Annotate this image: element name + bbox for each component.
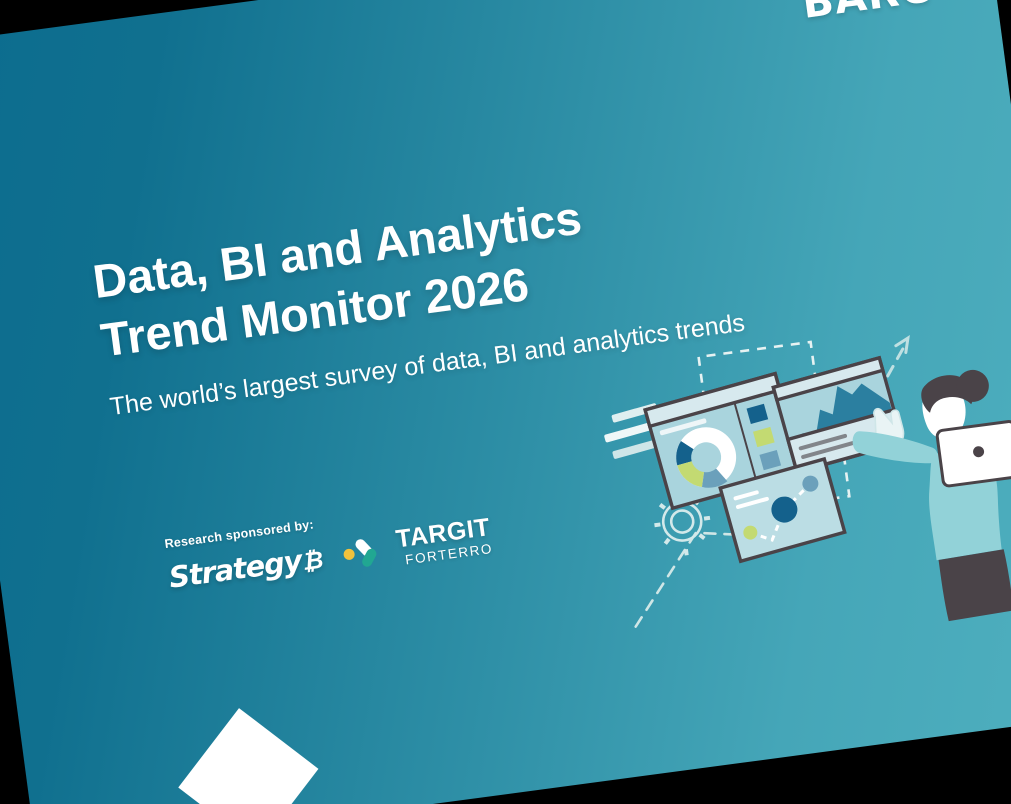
cover-canvas: BARC Data, BI and Analytics Trend Monito… (0, 0, 1011, 804)
sponsors-block: Research sponsored by: Strategy₿ TARGIT … (164, 494, 494, 598)
strategy-wordmark: Strategy (167, 544, 303, 595)
sponsor-logo-strategy[interactable]: Strategy₿ (167, 541, 324, 595)
hero-illustration (584, 288, 1011, 672)
targit-text-block: TARGIT FORTERRO (394, 515, 493, 568)
targit-chevron-icon (342, 534, 392, 570)
targit-dot-icon (343, 548, 355, 560)
cover-card: BARC Data, BI and Analytics Trend Monito… (0, 0, 1011, 804)
bitcoin-b-icon: ₿ (300, 546, 324, 577)
barc-logo: BARC (799, 0, 934, 28)
decor-diamond (178, 708, 318, 804)
